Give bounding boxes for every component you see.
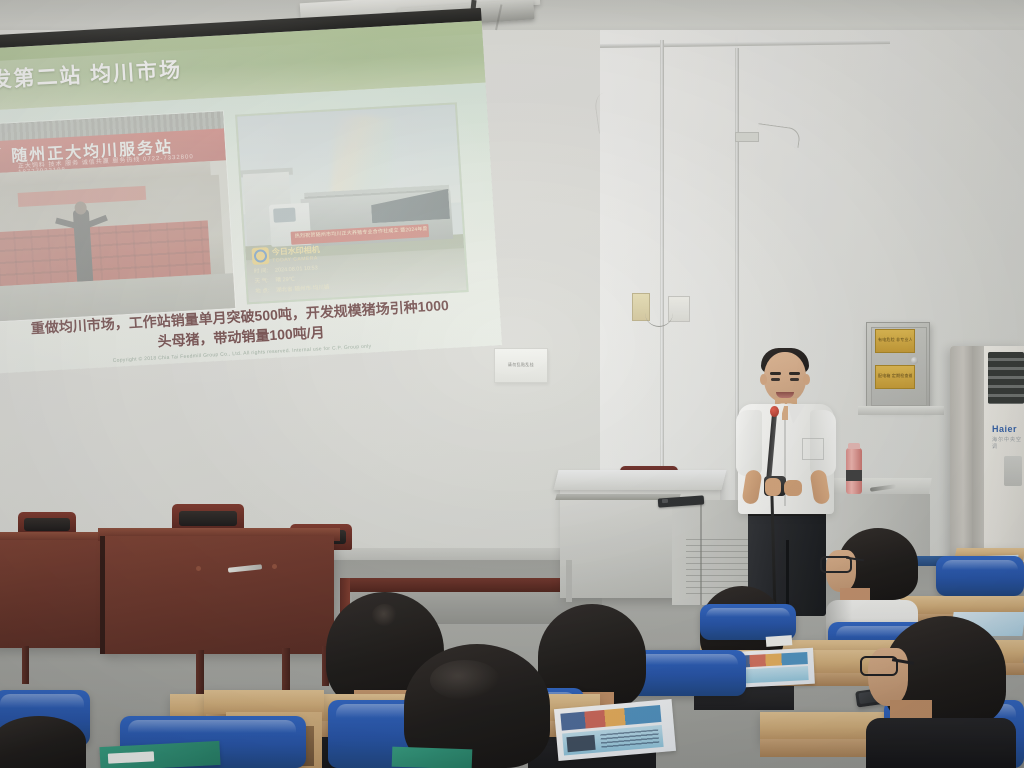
classroom-photo: ThreadBare 场开发第二站 均川市场 正大饲料 CP FEED 随州正大… xyxy=(0,0,1024,768)
presenter-ear-left xyxy=(760,374,767,385)
wall-ledge xyxy=(858,406,944,415)
presenter-eyebrow-left xyxy=(770,372,781,375)
podium-desktop-surface xyxy=(554,470,727,490)
student-chair-highlight xyxy=(942,560,1018,570)
wall-notice-sign: 请勿乱贴乱挂 xyxy=(494,348,548,383)
panel-warning-text-bottom: 配电箱 定期检查维护 xyxy=(878,373,912,379)
desk-knob[interactable] xyxy=(272,564,277,569)
presenter-hand-left xyxy=(765,478,781,496)
brochure[interactable] xyxy=(554,699,676,761)
air-conditioner[interactable]: Haier 海尔中央空调 xyxy=(950,346,1024,578)
remote-button[interactable] xyxy=(662,499,668,503)
wooden-chair-back-inset xyxy=(24,518,70,531)
panel-warning-label-top: 有电危险 非专业人员禁止操作 xyxy=(875,329,915,353)
water-bottle[interactable] xyxy=(846,448,862,494)
bottle-cap[interactable] xyxy=(848,443,860,449)
presenter-eyebrow-right xyxy=(789,372,800,375)
bottle-label-band xyxy=(846,470,862,481)
wall-scuff-mark xyxy=(593,90,625,133)
wooden-desk xyxy=(104,536,334,654)
air-conditioner-side-panel xyxy=(950,346,972,578)
brochure-photo-block xyxy=(566,735,595,752)
student-chair-highlight xyxy=(0,694,84,708)
air-conditioner-vent-grille xyxy=(988,352,1024,404)
student-torso xyxy=(866,718,1016,768)
screen-surface: 场开发第二站 均川市场 正大饲料 CP FEED 随州正大均川服务站 正大饲料 … xyxy=(0,21,502,374)
air-conditioner-side-panel-2 xyxy=(972,346,984,578)
projection-screen: 场开发第二站 均川市场 正大饲料 CP FEED 随州正大均川服务站 正大饲料 … xyxy=(0,8,502,378)
desk-knob[interactable] xyxy=(196,566,201,571)
panel-lock-icon[interactable] xyxy=(911,357,918,364)
slide-photo-left: 正大饲料 CP FEED 随州正大均川服务站 正大饲料 技术 服务 诚信共赢 服… xyxy=(0,111,235,324)
desk-leg xyxy=(196,650,204,694)
photo-right-projection-washout xyxy=(237,104,466,302)
wooden-chair-back-inset xyxy=(179,511,237,526)
desk-leg xyxy=(22,646,29,684)
wall-notice-text: 请勿乱贴乱挂 xyxy=(498,362,544,368)
air-conditioner-brand-sub: 海尔中央空调 xyxy=(992,436,1024,450)
air-conditioner-display-panel[interactable] xyxy=(1004,456,1022,486)
student-hair xyxy=(0,716,86,768)
paper-scrap[interactable] xyxy=(766,635,793,647)
booklet-label xyxy=(108,751,154,763)
presenter-hand-right xyxy=(784,480,802,496)
podium-panel-seam xyxy=(700,500,702,605)
podium-leg xyxy=(566,560,572,602)
presenter-shirt-pocket xyxy=(802,438,824,460)
microphone-head-icon xyxy=(770,406,779,417)
wall-conduit-vertical-left xyxy=(660,40,664,540)
student-chair-highlight xyxy=(706,608,790,617)
electrical-panel[interactable]: 有电危险 非专业人员禁止操作 配电箱 定期检查维护 xyxy=(866,322,930,409)
presenter-ear-right xyxy=(803,374,810,385)
air-conditioner-brand: Haier xyxy=(992,424,1017,434)
presenter-eye-left xyxy=(771,378,780,381)
presenter-sleeve-left xyxy=(736,410,762,476)
wall-conduit-vertical-right xyxy=(735,48,739,468)
green-booklet[interactable] xyxy=(392,747,473,768)
student-chair-highlight xyxy=(128,720,296,733)
desk-leg xyxy=(282,648,290,690)
student-hair-crown xyxy=(372,604,398,626)
student-hair-highlight xyxy=(430,660,500,700)
panel-warning-text-top: 有电危险 非专业人员禁止操作 xyxy=(878,337,912,343)
slide-photo-right: 热烈祝贺随州市均川正大养殖专业合作社成立 暨2024年度开业大吉 今日水印相机 … xyxy=(235,102,469,304)
photo-left-projection-washout xyxy=(0,111,235,324)
desk-seam xyxy=(100,536,105,654)
panel-warning-label-bottom: 配电箱 定期检查维护 xyxy=(875,365,915,389)
presenter-eye-right xyxy=(790,378,799,381)
wooden-desk xyxy=(0,540,110,648)
